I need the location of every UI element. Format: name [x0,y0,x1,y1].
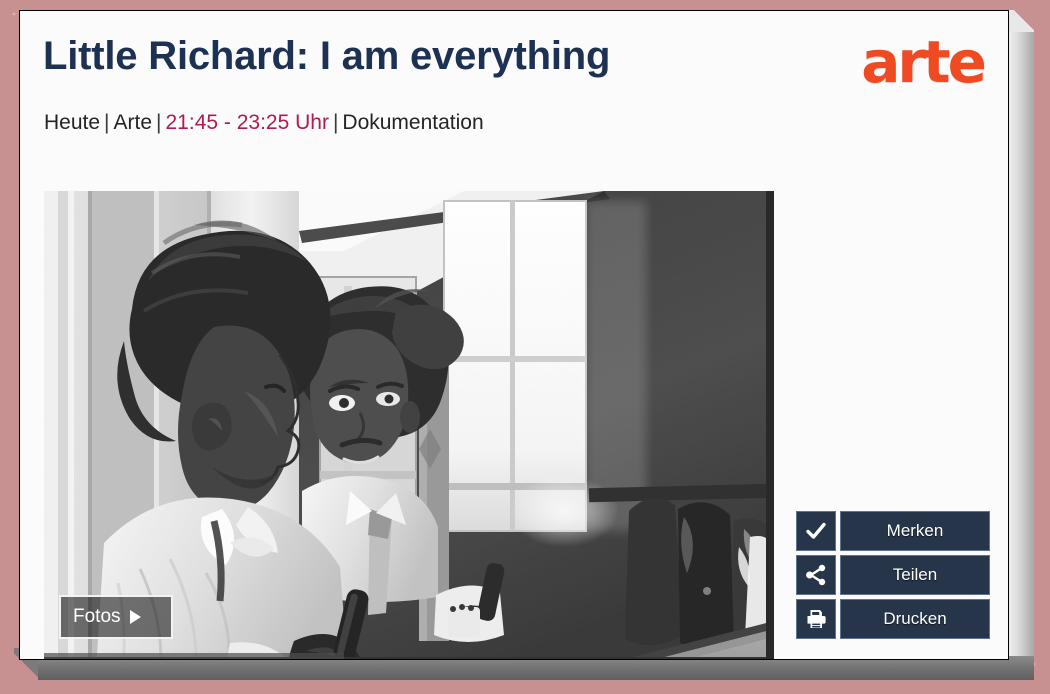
meta-channel: Arte [114,111,153,134]
meta-separator-1: | [100,111,113,134]
meta-separator-3: | [329,111,342,134]
action-row-teilen[interactable]: Teilen [796,555,990,595]
share-icon[interactable] [796,555,836,595]
drucken-button-label[interactable]: Drucken [840,599,990,639]
fotos-badge[interactable]: Fotos [59,595,173,639]
content-page: Little Richard: I am everything Heute|Ar… [19,10,1009,660]
action-button-panel: Merken Teilen [796,511,990,643]
check-icon[interactable] [796,511,836,551]
page-header: Little Richard: I am everything Heute|Ar… [20,11,1008,181]
teilen-button-label[interactable]: Teilen [840,555,990,595]
meta-day: Heute [44,111,100,134]
hero-photo-image [44,191,774,660]
meta-separator-2: | [152,111,165,134]
action-row-merken[interactable]: Merken [796,511,990,551]
arte-logo: arte [861,33,984,91]
printer-icon[interactable] [796,599,836,639]
merken-button-label[interactable]: Merken [840,511,990,551]
action-row-drucken[interactable]: Drucken [796,599,990,639]
meta-time: 21:45 - 23:25 Uhr [166,111,329,134]
page-bevel-corner-top-right [1008,10,1034,32]
play-triangle-icon [130,610,141,624]
broadcast-meta: Heute|Arte|21:45 - 23:25 Uhr|Dokumentati… [44,111,484,135]
page-title: Little Richard: I am everything [43,34,610,79]
fotos-badge-label: Fotos [73,606,121,628]
page-bevel-right [1008,16,1034,680]
outer-frame: Little Richard: I am everything Heute|Ar… [0,0,1050,694]
meta-genre: Dokumentation [342,111,483,134]
hero-photo[interactable]: Fotos [44,191,774,660]
